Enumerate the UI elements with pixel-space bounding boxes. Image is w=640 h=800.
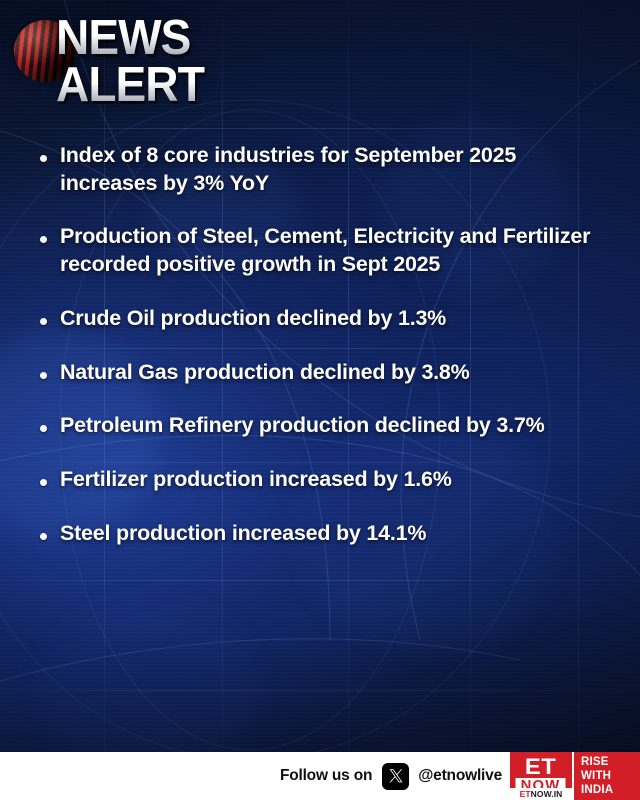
list-item: Fertilizer production increased by 1.6% [40,466,620,494]
header: NEWS ALERT [0,0,640,128]
list-item: Index of 8 core industries for September… [40,142,620,197]
bullet-dot-icon [40,533,47,540]
bullet-dot-icon [40,236,47,243]
list-item: Petroleum Refinery production declined b… [40,412,620,440]
list-item-text: Steel production increased by 14.1% [60,520,426,548]
social-handle[interactable]: @etnowlive [418,767,502,785]
list-item-text: Crude Oil production declined by 1.3% [60,305,446,333]
list-item-text: Fertilizer production increased by 1.6% [60,466,452,494]
list-item-text: Production of Steel, Cement, Electricity… [60,223,612,278]
list-item-text: Petroleum Refinery production declined b… [60,412,545,440]
bullet-dot-icon [40,425,47,432]
bullet-dot-icon [40,318,47,325]
et-now-logo-mark: ET NOW ETNOW.IN [510,752,572,800]
page-title-line-2: ALERT [56,63,205,108]
bullet-dot-icon [40,372,47,379]
bullet-dot-icon [40,479,47,486]
tagline-line-3: INDIA [581,783,613,797]
list-item-text: Index of 8 core industries for September… [60,142,612,197]
background-grid-line [0,128,640,129]
et-site-prefix: ET [520,789,531,799]
list-item: Production of Steel, Cement, Electricity… [40,223,620,278]
et-now-tagline: RISE WITH INDIA [572,752,640,800]
tagline-line-1: RISE [581,755,609,769]
et-site-suffix: NOW.IN [531,789,563,799]
list-item: Crude Oil production declined by 1.3% [40,305,620,333]
list-item: Natural Gas production declined by 3.8% [40,359,620,387]
background-grid-line [0,690,640,691]
tagline-line-2: WITH [581,769,611,783]
follow-us-label: Follow us on [280,767,372,785]
bullet-list: Index of 8 core industries for September… [40,142,620,574]
list-item-text: Natural Gas production declined by 3.8% [60,359,470,387]
footer-bar: Follow us on @etnowlive ET NOW ETNOW.IN … [0,752,640,800]
et-now-logo[interactable]: ET NOW ETNOW.IN RISE WITH INDIA [510,752,640,800]
page-title-line-1: NEWS [56,16,205,61]
bullet-dot-icon [40,155,47,162]
page-title: NEWS ALERT [56,16,205,108]
list-item: Steel production increased by 14.1% [40,520,620,548]
et-now-website-label: ETNOW.IN [510,788,572,800]
et-logo-text: ET [525,756,556,777]
news-alert-graphic: NEWS ALERT Index of 8 core industries fo… [0,0,640,800]
background-grid-line [0,580,640,581]
x-twitter-icon[interactable] [382,763,409,790]
